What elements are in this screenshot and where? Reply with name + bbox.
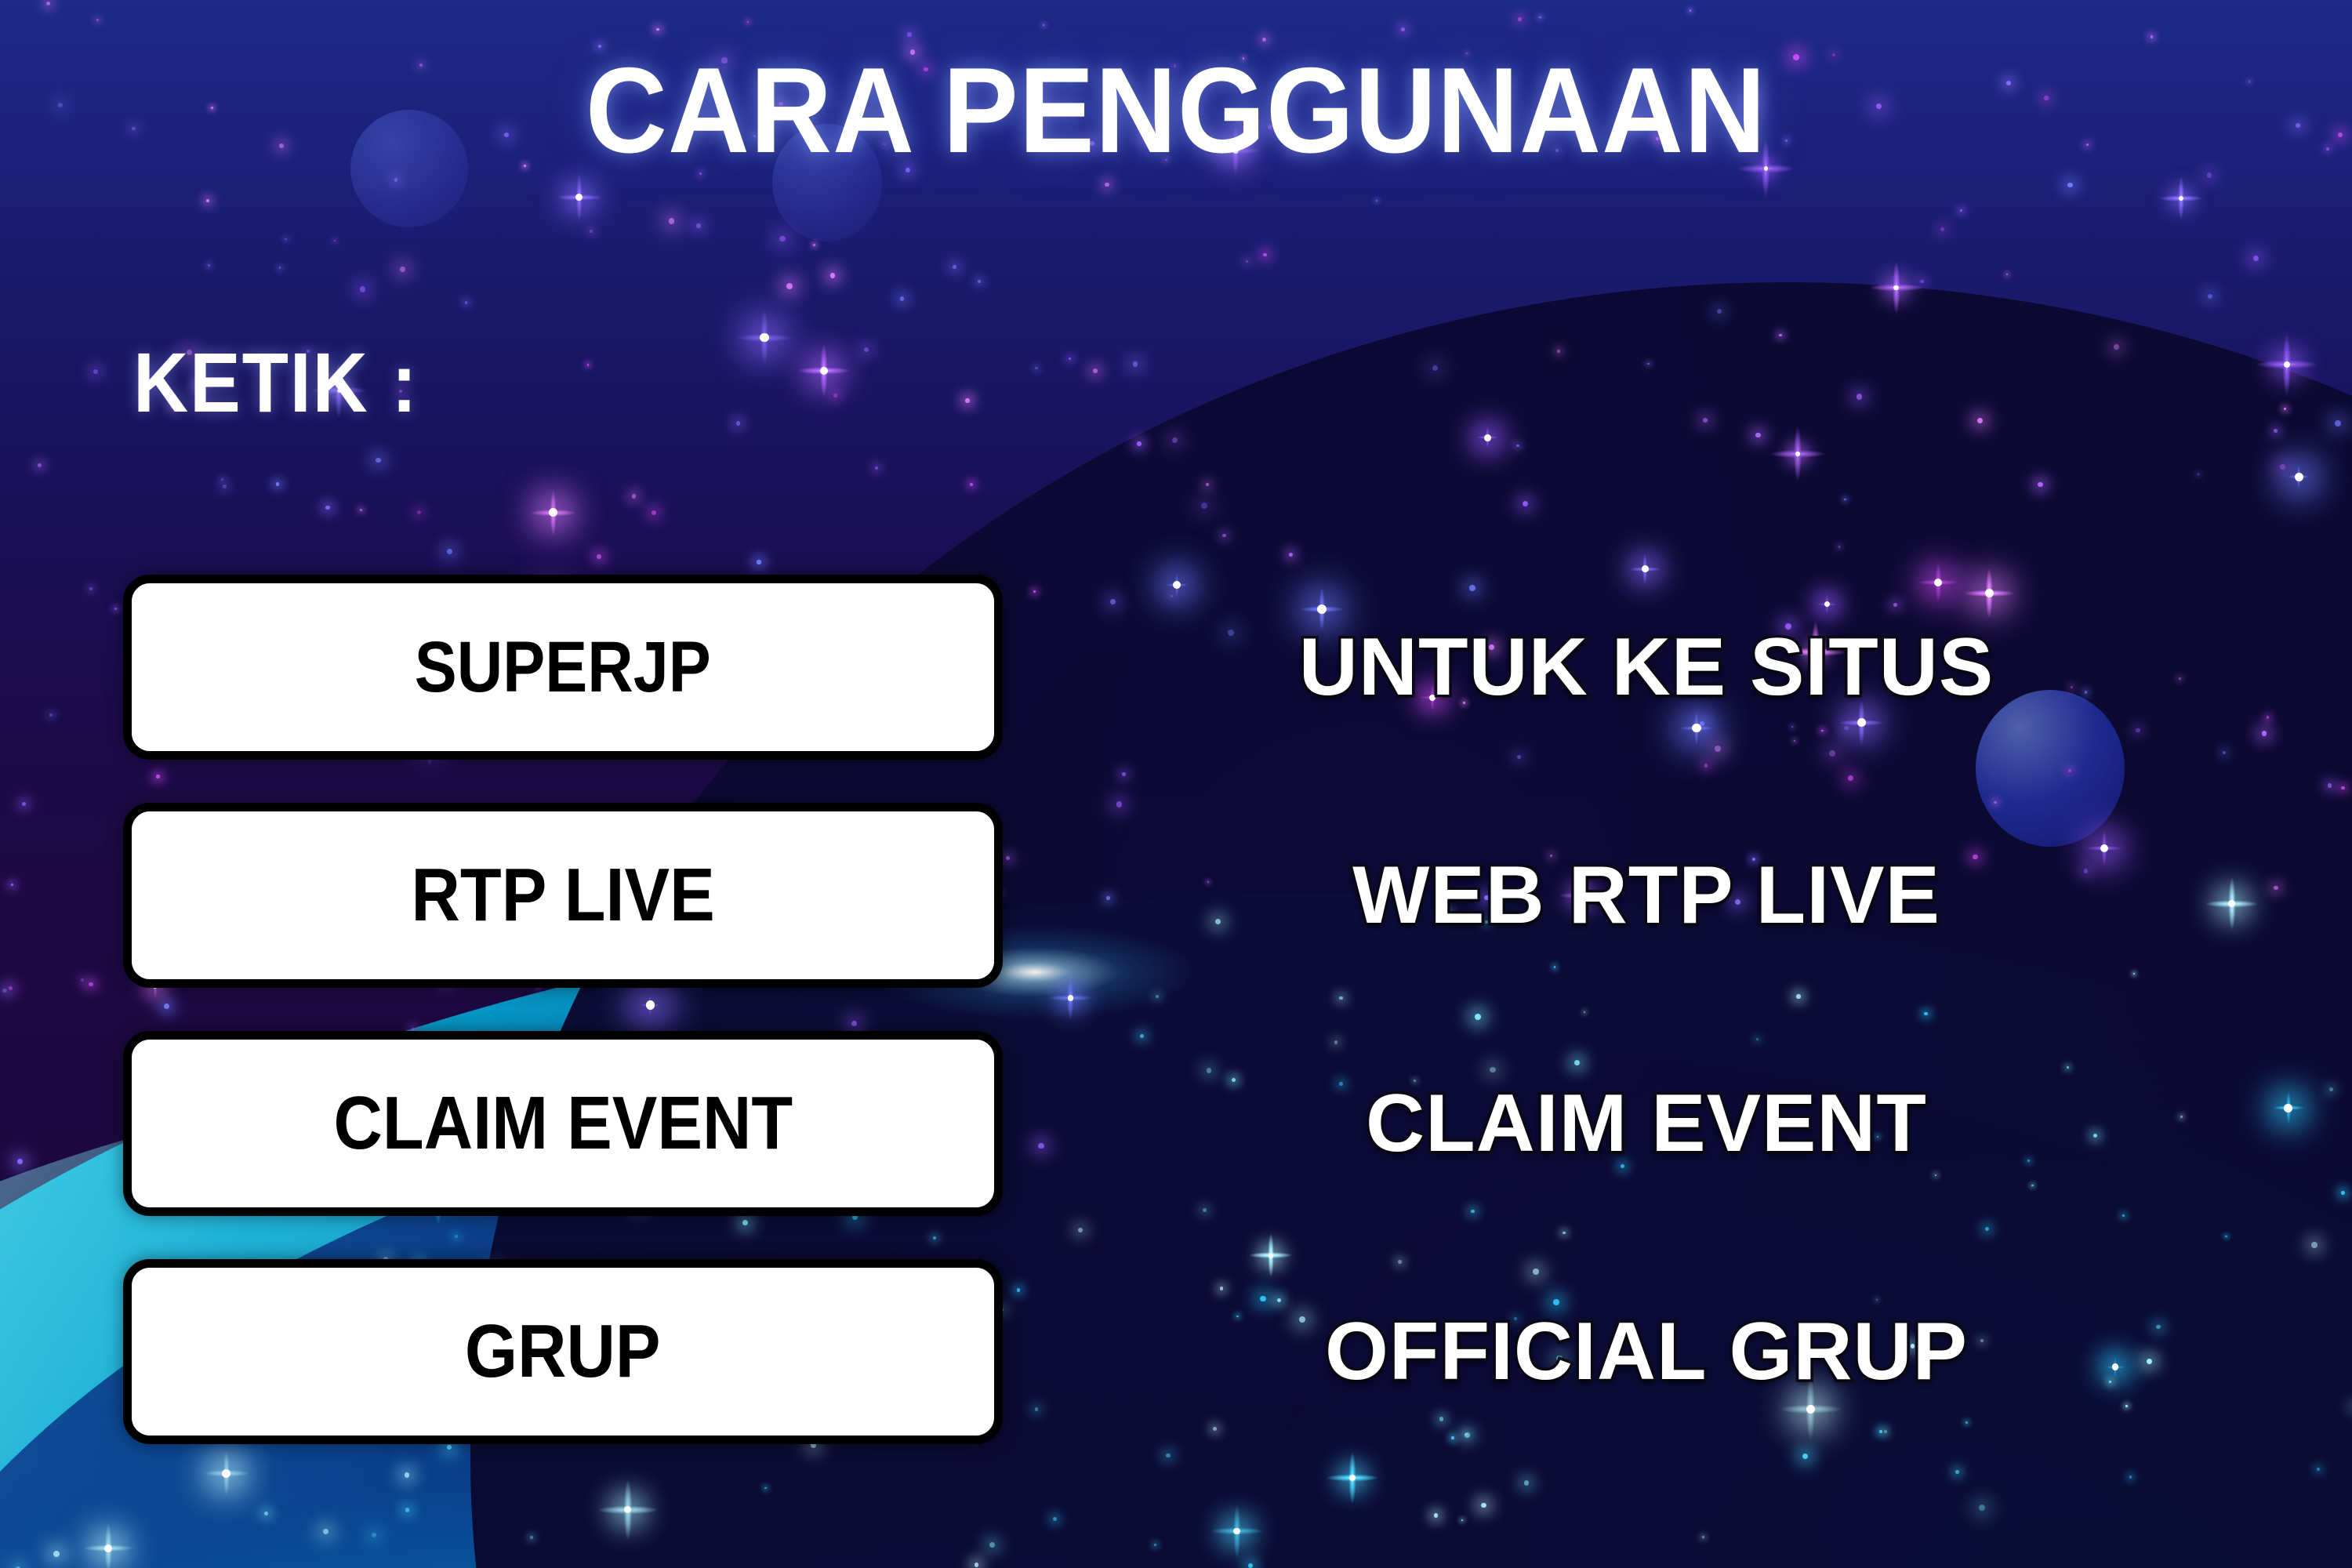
command-row: RTP LIVE WEB RTP LIVE [0,803,2352,1031]
command-button-label: CLAIM EVENT [333,1086,793,1161]
command-row: CLAIM EVENT CLAIM EVENT [0,1031,2352,1259]
command-description-rtp-live: WEB RTP LIVE [1019,803,2274,988]
command-row: GRUP OFFICIAL GRUP [0,1259,2352,1487]
command-description-claim-event: CLAIM EVENT [1019,1031,2274,1216]
command-list: SUPERJP UNTUK KE SITUS RTP LIVE WEB RTP … [0,575,2352,1487]
command-button-claim-event[interactable]: CLAIM EVENT [123,1031,1003,1216]
command-button-superjp[interactable]: SUPERJP [123,575,1003,760]
promo-banner: CARA PENGGUNAAN KETIK : SUPERJP UNTUK KE… [0,0,2352,1568]
command-button-label: SUPERJP [415,631,711,703]
content-layer: CARA PENGGUNAAN KETIK : SUPERJP UNTUK KE… [0,0,2352,1568]
page-title: CARA PENGGUNAAN [82,47,2270,175]
command-description-grup: OFFICIAL GRUP [1019,1259,2274,1444]
instruction-label: KETIK : [133,333,419,431]
command-button-rtp-live[interactable]: RTP LIVE [123,803,1003,988]
command-description-superjp: UNTUK KE SITUS [1019,575,2274,760]
command-button-grup[interactable]: GRUP [123,1259,1003,1444]
command-button-label: RTP LIVE [411,858,714,933]
command-row: SUPERJP UNTUK KE SITUS [0,575,2352,803]
command-button-label: GRUP [465,1314,661,1389]
